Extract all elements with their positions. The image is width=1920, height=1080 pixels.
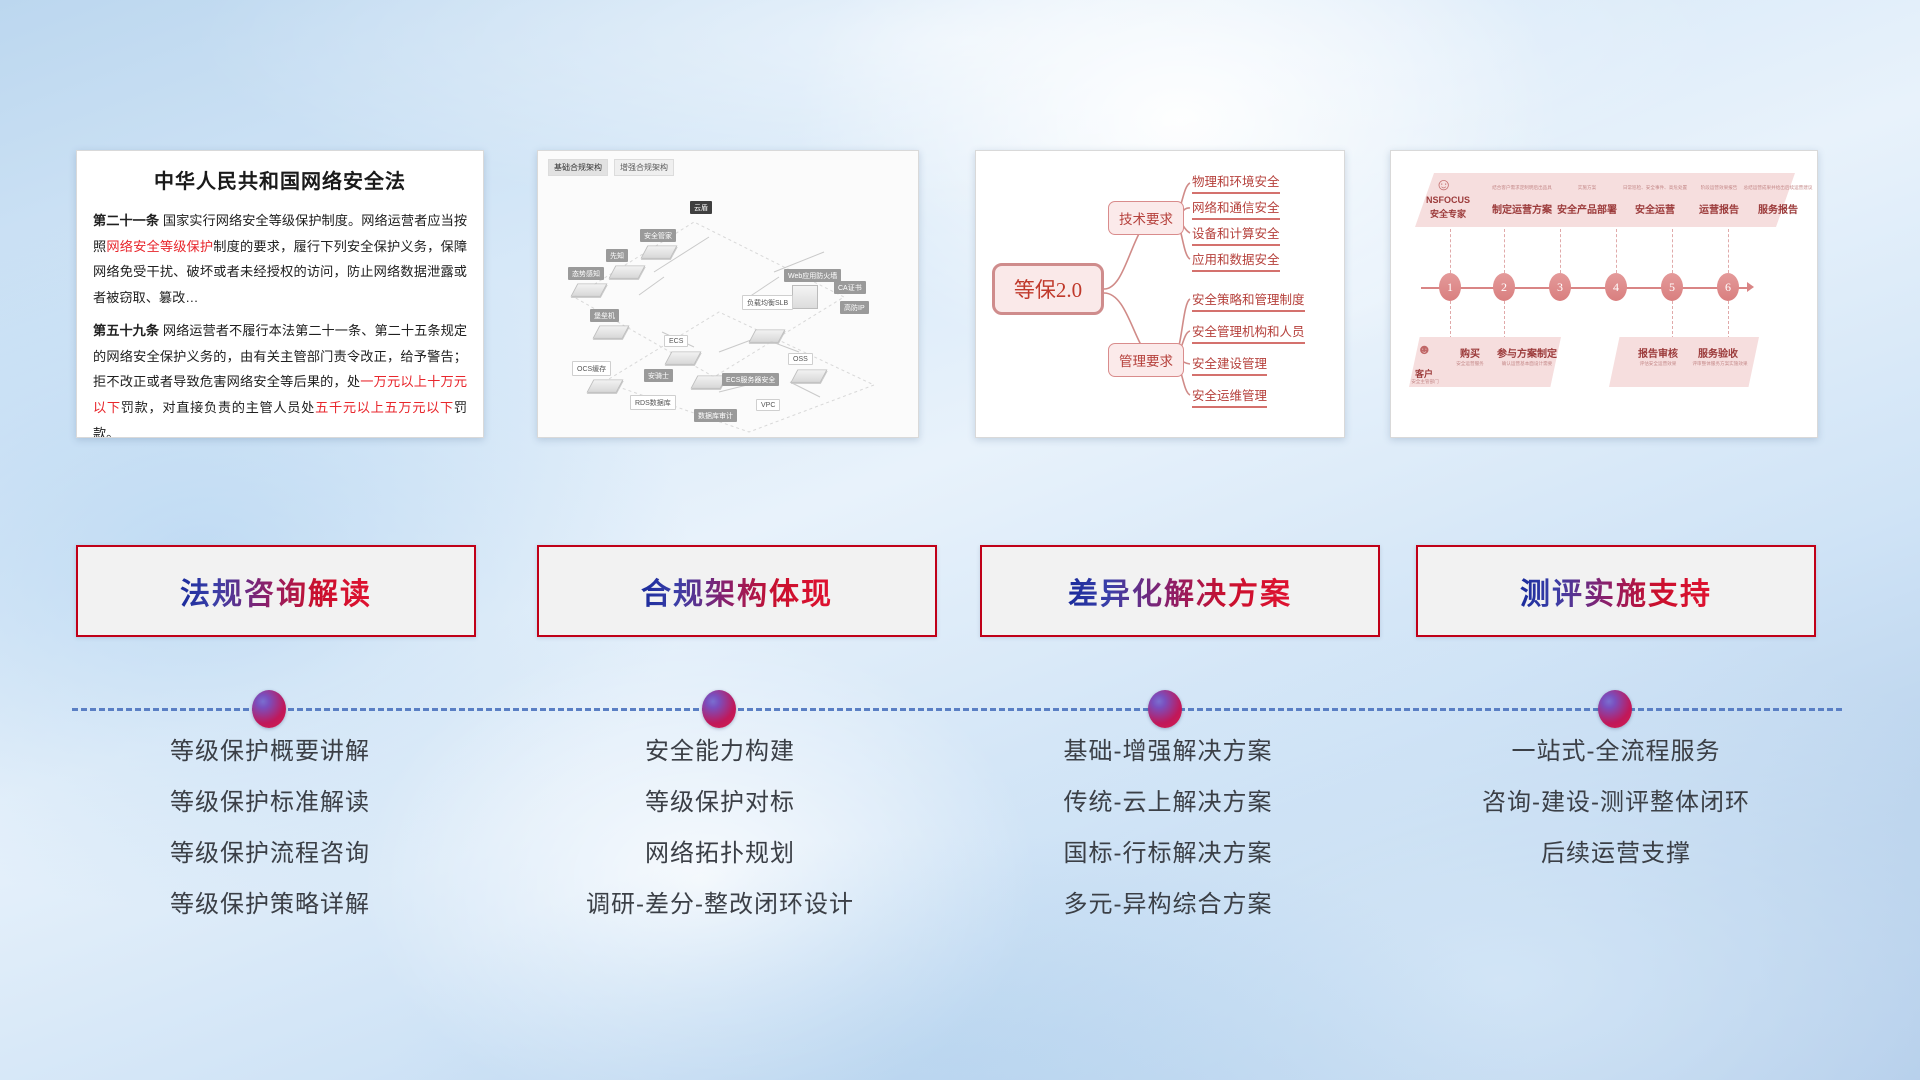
architecture-label-ecs-security: ECS服务器安全 — [722, 373, 779, 386]
list-item: 等级保护流程咨询 — [60, 842, 480, 866]
architecture-label-rds: RDS数据库 — [630, 395, 676, 410]
vendor-step-main: 制定运营方案 — [1483, 201, 1561, 216]
list-item: 传统-云上解决方案 — [958, 791, 1378, 815]
progress-timeline — [0, 690, 1920, 730]
mindmap-leaf: 设备和计算安全 — [1192, 223, 1280, 246]
architecture-label-slb: 负载均衡SLB — [742, 295, 793, 310]
law-document-title: 中华人民共和国网络安全法 — [93, 165, 467, 194]
mindmap-canvas: 等保2.0 技术要求 管理要求 物理和环境安全 网络和通信安全 设备和计算安全 … — [976, 151, 1344, 437]
architecture-nodes: 云盾 安全管家 先知 态势感知 堡垒机 ECS 安骑士 Web应用防火墙 负 — [544, 177, 912, 431]
list-item: 等级保护标准解读 — [60, 791, 480, 815]
architecture-node — [752, 327, 782, 345]
architecture-label-security-butler: 安全管家 — [640, 229, 676, 242]
mindmap-branch-technical: 技术要求 — [1108, 201, 1184, 235]
timeline-connector — [1616, 229, 1617, 273]
list-item: 咨询-建设-测评整体闭环 — [1406, 791, 1826, 815]
mindmap-leaf: 安全建设管理 — [1192, 353, 1267, 376]
architecture-label-xianzhi: 先知 — [606, 249, 628, 262]
timeline-dashed-rail — [72, 708, 1842, 711]
section-heading-label: 合规架构体现 — [641, 569, 833, 613]
vendor-step-sub: 总结运营成果并给出后续运营建议 — [1739, 185, 1817, 191]
architecture-node — [596, 323, 626, 341]
timeline-node-3: 3 — [1549, 273, 1571, 301]
section-heading-box-4[interactable]: 测评实施支持 — [1416, 545, 1816, 637]
customer-step-main: 购买 — [1447, 345, 1493, 360]
section-list-4: 一站式-全流程服务 咨询-建设-测评整体闭环 后续运营支撑 — [1406, 740, 1826, 893]
section-list-3: 基础-增强解决方案 传统-云上解决方案 国标-行标解决方案 多元-异构综合方案 — [958, 740, 1378, 944]
thumbnail-mindmap[interactable]: 等保2.0 技术要求 管理要求 物理和环境安全 网络和通信安全 设备和计算安全 … — [975, 150, 1345, 438]
architecture-node — [574, 281, 604, 299]
timeline-marker-3[interactable] — [1148, 690, 1182, 728]
law-run-text: 罚款，对直接负责的主管人员处 — [121, 400, 315, 415]
law-paragraph: 第五十九条 网络运营者不履行本法第二十一条、第二十五条规定的网络安全保护义务的，… — [93, 318, 467, 438]
service-timeline-canvas: ☺ NSFOCUS 安全专家 结合客户需求定制明后出品具 制定运营方案 实施方案… — [1391, 151, 1817, 437]
timeline-node-2: 2 — [1493, 273, 1515, 301]
architecture-label-db-audit: 数据库审计 — [694, 409, 737, 422]
mindmap-leaf: 网络和通信安全 — [1192, 197, 1280, 220]
vendor-subtitle: 安全专家 — [1417, 207, 1479, 220]
section-heading-box-3[interactable]: 差异化解决方案 — [980, 545, 1380, 637]
architecture-label-situation-awareness: 态势感知 — [568, 267, 604, 280]
section-heading-row: 法规咨询解读 合规架构体现 差异化解决方案 测评实施支持 — [0, 545, 1920, 637]
tab-basic-architecture[interactable]: 基础合规架构 — [548, 159, 608, 176]
customer-subtitle: 安全主管部门 — [1401, 379, 1449, 385]
section-heading-label: 法规咨询解读 — [180, 569, 372, 613]
architecture-label-ca-cert: CA证书 — [834, 281, 866, 294]
law-document-body: 中华人民共和国网络安全法 第二十一条 国家实行网络安全等级保护制度。网络运营者应… — [77, 151, 483, 438]
timeline-connector — [1728, 301, 1729, 339]
section-list-1: 等级保护概要讲解 等级保护标准解读 等级保护流程咨询 等级保护策略详解 — [60, 740, 480, 944]
timeline-node-5: 5 — [1661, 273, 1683, 301]
timeline-axis — [1421, 287, 1751, 289]
architecture-label-oss: OSS — [788, 353, 813, 365]
timeline-marker-4[interactable] — [1598, 690, 1632, 728]
mindmap-leaf: 安全运维管理 — [1192, 385, 1267, 408]
timeline-arrow-icon — [1747, 282, 1754, 292]
timeline-connector — [1560, 229, 1561, 273]
architecture-node — [694, 373, 724, 391]
architecture-canvas: 基础合规架构 增强合规架构 — [538, 151, 918, 437]
mindmap-leaf: 安全管理机构和人员 — [1192, 321, 1305, 344]
person-star-icon: ☺ — [1435, 175, 1452, 195]
timeline-connector — [1504, 229, 1505, 273]
thumbnail-row: 中华人民共和国网络安全法 第二十一条 国家实行网络安全等级保护制度。网络运营者应… — [0, 150, 1920, 440]
mindmap-leaf: 安全策略和管理制度 — [1192, 289, 1305, 312]
law-run-highlight: 五千元以上五万元以下 — [315, 400, 454, 415]
timeline-connector — [1672, 301, 1673, 339]
architecture-tabs: 基础合规架构 增强合规架构 — [548, 159, 674, 176]
list-item: 后续运营支撑 — [1406, 842, 1826, 866]
customer-step-main: 报告审核 — [1631, 345, 1685, 360]
section-heading-box-2[interactable]: 合规架构体现 — [537, 545, 937, 637]
timeline-connector — [1672, 229, 1673, 273]
mindmap-leaf: 应用和数据安全 — [1192, 249, 1280, 272]
timeline-connector — [1450, 301, 1451, 339]
timeline-connector — [1504, 301, 1505, 339]
architecture-node — [612, 263, 642, 281]
law-article-number: 第二十一条 — [93, 213, 159, 228]
customer-icon: ☻ — [1417, 341, 1432, 357]
list-item: 调研-差分-整改闭环设计 — [510, 893, 930, 917]
customer-step-main: 服务验收 — [1691, 345, 1745, 360]
section-heading-label: 差异化解决方案 — [1068, 569, 1292, 613]
mindmap-leaf: 物理和环境安全 — [1192, 171, 1280, 194]
law-run-highlight: 网络安全等级保护 — [106, 239, 213, 254]
section-lists-row: 等级保护概要讲解 等级保护标准解读 等级保护流程咨询 等级保护策略详解 安全能力… — [0, 740, 1920, 960]
list-item: 等级保护概要讲解 — [60, 740, 480, 764]
law-paragraph: 第二十一条 国家实行网络安全等级保护制度。网络运营者应当按照网络安全等级保护制度… — [93, 208, 467, 311]
vendor-step-sub: 结合客户需求定制明后出品具 — [1483, 185, 1561, 191]
thumbnail-architecture-diagram[interactable]: 基础合规架构 增强合规架构 — [537, 150, 919, 438]
architecture-label-anti-ddos-ip: 高防IP — [840, 301, 869, 314]
list-item: 安全能力构建 — [510, 740, 930, 764]
architecture-label-anqishi: 安骑士 — [644, 369, 673, 382]
mindmap-branch-management: 管理要求 — [1108, 343, 1184, 377]
timeline-node-6: 6 — [1717, 273, 1739, 301]
architecture-node — [644, 243, 674, 261]
timeline-connector — [1728, 229, 1729, 273]
thumbnail-service-timeline[interactable]: ☺ NSFOCUS 安全专家 结合客户需求定制明后出品具 制定运营方案 实施方案… — [1390, 150, 1818, 438]
architecture-label-bastion-host: 堡垒机 — [590, 309, 619, 322]
section-heading-box-1[interactable]: 法规咨询解读 — [76, 545, 476, 637]
customer-step-sub: 评估安全运营效果 — [1625, 361, 1691, 367]
mindmap-root-node: 等保2.0 — [992, 263, 1104, 315]
timeline-node-1: 1 — [1439, 273, 1461, 301]
architecture-node — [668, 349, 698, 367]
timeline-marker-2[interactable] — [702, 690, 736, 728]
section-list-2: 安全能力构建 等级保护对标 网络拓扑规划 调研-差分-整改闭环设计 — [510, 740, 930, 944]
list-item: 一站式-全流程服务 — [1406, 740, 1826, 764]
architecture-label-ecs: ECS — [664, 335, 688, 347]
architecture-node — [794, 367, 824, 385]
law-article-number: 第五十九条 — [93, 323, 159, 338]
timeline-connector — [1450, 229, 1451, 273]
list-item: 多元-异构综合方案 — [958, 893, 1378, 917]
page-root: 中华人民共和国网络安全法 第二十一条 国家实行网络安全等级保护制度。网络运营者应… — [0, 0, 1920, 1080]
section-heading-label: 测评实施支持 — [1520, 569, 1712, 613]
vendor-name: NSFOCUS — [1417, 195, 1479, 205]
architecture-label-waf: Web应用防火墙 — [784, 269, 841, 282]
timeline-marker-1[interactable] — [252, 690, 286, 728]
architecture-node — [792, 285, 818, 309]
vendor-step-main: 服务报告 — [1739, 201, 1817, 216]
customer-step-sub: 评审整体服务方案实施效果 — [1685, 361, 1755, 367]
tab-enhanced-architecture[interactable]: 增强合规架构 — [614, 159, 674, 176]
architecture-label-ocs-cache: OCS缓存 — [572, 361, 611, 376]
list-item: 基础-增强解决方案 — [958, 740, 1378, 764]
architecture-node — [590, 377, 620, 395]
timeline-node-4: 4 — [1605, 273, 1627, 301]
architecture-label-cloud-shield: 云盾 — [690, 201, 712, 214]
list-item: 等级保护对标 — [510, 791, 930, 815]
customer-step-main: 参与方案制定 — [1491, 345, 1563, 360]
list-item: 网络拓扑规划 — [510, 842, 930, 866]
list-item: 等级保护策略详解 — [60, 893, 480, 917]
list-item: 国标-行标解决方案 — [958, 842, 1378, 866]
thumbnail-law-document[interactable]: 中华人民共和国网络安全法 第二十一条 国家实行网络安全等级保护制度。网络运营者应… — [76, 150, 484, 438]
architecture-label-vpc: VPC — [756, 399, 780, 411]
customer-step-sub: 确认运营基本面设计需要 — [1489, 361, 1565, 367]
